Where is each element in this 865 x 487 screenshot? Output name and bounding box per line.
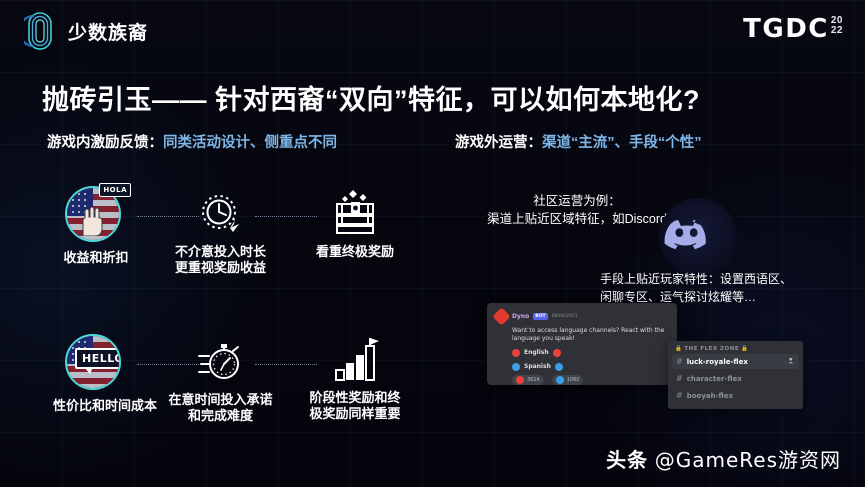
discord-message-screenshot: Dyno BOT 06/04/2021 Want to access langu…	[487, 303, 677, 385]
english-emoji-right-icon	[553, 349, 561, 357]
feature-caption-line1: 看重终极奖励	[316, 244, 394, 260]
channel-category[interactable]: 🔒 THE FLEX ZONE 🔒	[672, 346, 799, 352]
feature-caption-line1: 阶段性奖励和终	[309, 390, 400, 406]
subtitle-out-game: 游戏外运营：渠道“主流”、手段“个性”	[455, 131, 702, 152]
tgdc-year: 20 22	[831, 16, 843, 36]
bot-badge: BOT	[533, 313, 547, 320]
spanish-label: Spanish	[524, 363, 551, 370]
discord-message-body: Want to access language channels? React …	[512, 327, 669, 343]
subtitle-out-game-key: 游戏外运营：	[455, 135, 542, 151]
spanish-emoji-right-icon	[555, 363, 563, 371]
channel-name: luck-royale-flex	[687, 358, 748, 366]
channel-item-luck-royale-flex[interactable]: # luck-royale-flex	[672, 354, 799, 369]
feature-caption-line2: 极奖励同样重要	[309, 406, 400, 422]
subtitle-out-game-value: 渠道“主流”、手段“个性”	[542, 135, 702, 151]
feature-item-discount: HOLA 收益和折扣	[48, 186, 144, 267]
feature-item-value-time: HELLO 性价比和时间成本	[48, 334, 144, 415]
hash-icon: #	[676, 391, 683, 400]
tgdc-logo: TGDC 20 22	[743, 14, 843, 44]
tgdc-wordmark: TGDC	[743, 14, 829, 44]
stopwatch-icon	[197, 338, 245, 386]
feature-caption: 阶段性奖励和终 极奖励同样重要	[309, 390, 400, 423]
feature-caption-line2: 和完成难度	[168, 408, 272, 424]
clock-arrow-icon	[197, 190, 245, 238]
feature-item-ultimate-reward: 看重终极奖励	[300, 186, 410, 261]
hola-bubble: HOLA	[99, 183, 131, 197]
english-emoji-left-icon	[512, 349, 520, 357]
feature-caption: 在意时间投入承诺 和完成难度	[168, 392, 272, 425]
subtitle-in-game-key: 游戏内激励反馈：	[47, 135, 163, 151]
community-ops-note-line1: 社区运营为例：	[467, 192, 687, 210]
feature-item-staged-reward: 阶段性奖励和终 极奖励同样重要	[300, 336, 410, 423]
watermark: 头条 @GameRes游资网	[0, 444, 865, 473]
page-title: 抛砖引玉—— 针对西裔“双向”特征，可以如何本地化?	[42, 78, 842, 117]
english-count: 3614	[527, 377, 540, 383]
watermark-prefix: 头条	[606, 450, 648, 472]
channel-item-booyah-flex[interactable]: # booyah-flex	[672, 388, 799, 403]
reaction-pill-english[interactable]: 3614	[512, 375, 544, 385]
category-emoji-right-icon: 🔒	[741, 346, 748, 352]
brand-title: 少数族裔	[68, 18, 148, 45]
english-label: English	[524, 349, 549, 356]
english-count-icon	[516, 376, 524, 384]
reaction-pill-spanish[interactable]: 1060	[552, 375, 584, 385]
discord-channel-list-screenshot: 🔒 THE FLEX ZONE 🔒 # luck-royale-flex # c…	[668, 341, 803, 409]
feature-caption: 看重终极奖励	[316, 244, 394, 260]
treasure-chest-icon	[329, 186, 381, 238]
feature-item-time: 不介意投入时长 更重视奖励收益	[163, 190, 278, 277]
add-member-icon[interactable]	[788, 357, 795, 366]
subtitle-in-game-value: 同类活动设计、侧重点不同	[163, 135, 337, 151]
slide-canvas: 少数族裔 TGDC 20 22 抛砖引玉—— 针对西裔“双向”特征，可以如何本地…	[0, 0, 865, 487]
category-label: THE FLEX ZONE	[684, 346, 739, 352]
community-ops-note-line2: 渠道上贴近区域特征，如Discord	[467, 210, 687, 228]
player-traits-note-line1: 手段上贴近玩家特性：设置西语区、	[600, 270, 850, 288]
feature-caption: 收益和折扣	[58, 250, 133, 266]
channel-name: character-flex	[687, 375, 742, 383]
feature-item-commitment: 在意时间投入承诺 和完成难度	[163, 338, 278, 425]
discord-timestamp: 06/04/2021	[552, 314, 578, 319]
feature-caption: 性价比和时间成本	[48, 398, 162, 414]
channel-name: booyah-flex	[687, 392, 733, 400]
hash-icon: #	[676, 357, 683, 366]
us-flag-hello-bubble-icon: HELLO	[65, 334, 127, 392]
tgdc-year-bottom: 22	[831, 26, 843, 36]
hash-icon: #	[676, 374, 683, 383]
oval-nested-logo-icon	[24, 10, 56, 52]
discord-logo-icon	[659, 198, 737, 276]
player-traits-note: 手段上贴近玩家特性：设置西语区、 闲聊专区、运气探讨炫耀等…	[600, 270, 850, 306]
discord-message-header: Dyno BOT 06/04/2021	[495, 310, 669, 323]
spanish-emoji-left-icon	[512, 363, 520, 371]
subtitle-in-game: 游戏内激励反馈：同类活动设计、侧重点不同	[47, 131, 337, 152]
channel-item-character-flex[interactable]: # character-flex	[672, 371, 799, 386]
feature-caption-line1: 在意时间投入承诺	[168, 392, 272, 408]
watermark-handle: @GameRes游资网	[655, 448, 841, 472]
feature-caption: 不介意投入时长 更重视奖励收益	[175, 244, 266, 277]
hello-bubble: HELLO	[75, 348, 121, 369]
brand-block: 少数族裔	[24, 10, 148, 52]
feature-caption-line1: 不介意投入时长	[175, 244, 266, 260]
discord-username: Dyno	[512, 313, 529, 320]
spanish-count: 1060	[567, 377, 580, 383]
discord-reaction-counts: 3614 1060	[512, 375, 669, 385]
us-flag-hand-hola-icon: HOLA	[65, 186, 127, 244]
spanish-count-icon	[556, 376, 564, 384]
community-ops-note: 社区运营为例： 渠道上贴近区域特征，如Discord	[467, 192, 687, 228]
slide-header: 少数族裔 TGDC 20 22	[0, 0, 865, 58]
dyno-avatar	[492, 307, 510, 325]
bar-chart-flag-icon	[330, 336, 380, 384]
feature-caption-line2: 更重视奖励收益	[175, 260, 266, 276]
category-emoji-left-icon: 🔒	[675, 346, 682, 352]
discord-reaction-spanish[interactable]: Spanish	[512, 363, 669, 371]
discord-reaction-english[interactable]: English	[512, 349, 669, 357]
